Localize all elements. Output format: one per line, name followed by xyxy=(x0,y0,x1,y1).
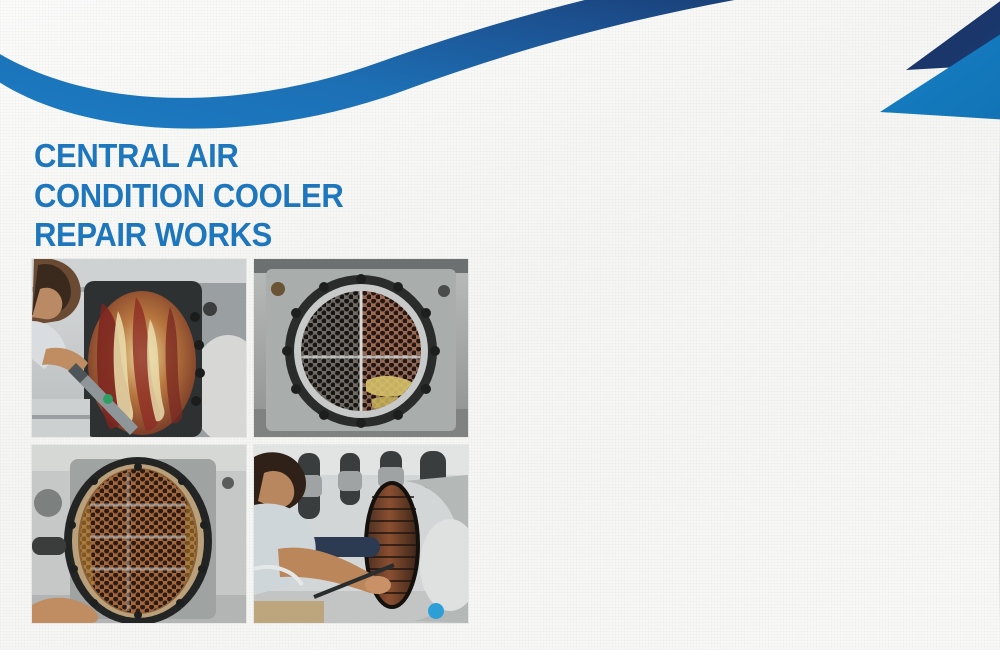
photo-tech-brushing-bundle xyxy=(254,445,468,623)
section-capacitor-bank-maintenance-ats-panel-works: CAPACITOR BANK MAINTENANCE & ATS PANEL W… xyxy=(500,0,1000,650)
content-columns: CENTRAL AIR CONDITION COOLER REPAIR WORK… xyxy=(0,0,1000,650)
photo-grid-left xyxy=(32,259,468,623)
section-title-left: CENTRAL AIR CONDITION COOLER REPAIR WORK… xyxy=(34,136,343,255)
photo-tech-cleaning-tube-sheet xyxy=(32,259,246,437)
section-central-air-condition-cooler-repair-works: CENTRAL AIR CONDITION COOLER REPAIR WORK… xyxy=(0,0,500,650)
photo-chiller-tube-sheet-open xyxy=(254,259,468,437)
photo-rusted-tube-sheet xyxy=(32,445,246,623)
